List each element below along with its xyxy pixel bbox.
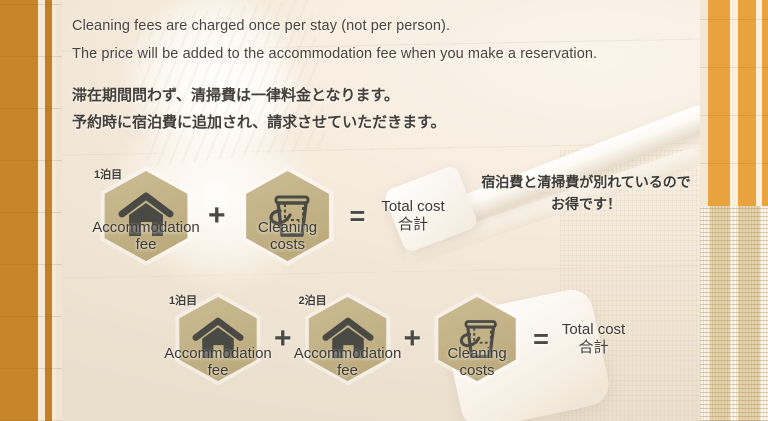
equals-operator: =	[350, 203, 366, 230]
plus-operator: +	[274, 324, 292, 354]
badge-cleaning-costs-b: Cleaning costs	[434, 296, 520, 382]
badge-accommodation-night2: 2泊目 Accommodation fee	[305, 296, 391, 382]
night-label-1: 1泊目	[169, 292, 197, 308]
left-border-grain	[0, 0, 62, 421]
total-cost-bottom: Total cost 合計	[562, 321, 625, 357]
total-cost-jp: 合計	[562, 339, 625, 357]
banner-canvas: Cleaning fees are charged once per stay …	[0, 0, 768, 421]
right-border-weave-texture	[700, 206, 768, 421]
night-label-1: 1泊目	[94, 166, 122, 182]
right-border-weave-panel	[700, 206, 768, 421]
badge-cleaning-costs: Cleaning costs	[242, 170, 334, 262]
bucket-icon	[434, 296, 520, 382]
equals-operator: =	[533, 326, 549, 353]
night-label-2: 2泊目	[299, 292, 327, 308]
japanese-line-2: 予約時に宿泊費に追加され、請求させていただきます。	[72, 109, 692, 137]
house-icon	[100, 170, 192, 262]
bucket-icon	[242, 170, 334, 262]
total-cost-en: Total cost	[562, 321, 625, 338]
callout-line-2: お得です！	[452, 194, 720, 216]
savings-callout: 宿泊費と清掃費が別れているので お得です！	[452, 172, 720, 215]
callout-line-1: 宿泊費と清掃費が別れているので	[452, 172, 720, 194]
english-line-1: Cleaning fees are charged once per stay …	[72, 12, 692, 40]
plus-operator: +	[208, 201, 226, 231]
japanese-block: 滞在期間問わず、清掃費は一律料金となります。 予約時に宿泊費に追加され、請求させ…	[72, 82, 692, 138]
equation-row-one-night: 1泊目 Accommodation fee +	[100, 170, 445, 262]
total-cost-jp: 合計	[381, 216, 444, 234]
copy-block: Cleaning fees are charged once per stay …	[72, 12, 692, 137]
english-line-2: The price will be added to the accommoda…	[72, 40, 692, 68]
japanese-line-1: 滞在期間問わず、清掃費は一律料金となります。	[72, 82, 692, 110]
plus-operator-2: +	[404, 324, 422, 354]
total-cost-en: Total cost	[381, 198, 444, 215]
house-icon	[175, 296, 261, 382]
badge-accommodation-night1: 1泊目 Accommodation fee	[100, 170, 192, 262]
left-wood-border	[0, 0, 62, 421]
total-cost-top: Total cost 合計	[381, 198, 444, 234]
house-icon	[305, 296, 391, 382]
equation-row-two-nights: 1泊目 Accommodation fee + 2泊目	[175, 296, 625, 382]
badge-accommodation-night1-b: 1泊目 Accommodation fee	[175, 296, 261, 382]
